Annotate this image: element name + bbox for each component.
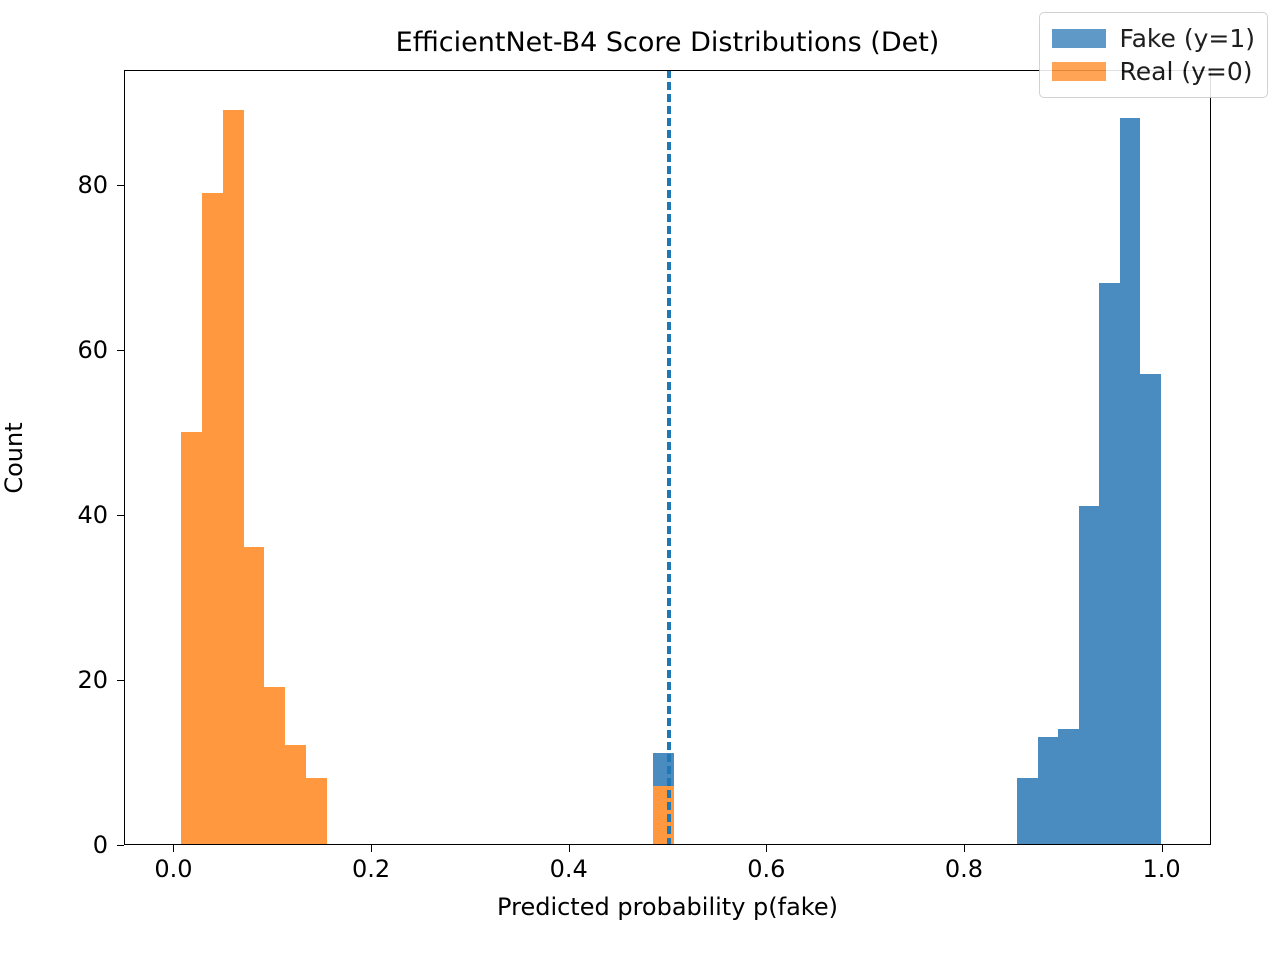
histogram-bar-real bbox=[244, 547, 265, 844]
histogram-bar-real bbox=[181, 432, 202, 844]
y-tick-mark bbox=[117, 185, 124, 186]
histogram-bar-fake bbox=[1038, 737, 1058, 844]
y-tick-mark bbox=[117, 350, 124, 351]
threshold-line bbox=[667, 71, 671, 844]
histogram-bar-fake bbox=[1017, 778, 1037, 844]
histogram-figure: EfficientNet-B4 Score Distributions (Det… bbox=[0, 0, 1280, 960]
histogram-bar-fake bbox=[1099, 283, 1119, 844]
x-tick-label: 1.0 bbox=[1142, 855, 1180, 883]
x-tick-label: 0.4 bbox=[550, 855, 588, 883]
x-tick-mark bbox=[173, 845, 174, 852]
x-tick-mark bbox=[964, 845, 965, 852]
plot-area bbox=[125, 71, 1210, 844]
y-axis-label-text: Count bbox=[0, 422, 28, 493]
x-axis-label: Predicted probability p(fake) bbox=[124, 893, 1211, 921]
histogram-bar-real bbox=[285, 745, 306, 844]
legend-label-real: Real (y=0) bbox=[1120, 57, 1253, 86]
x-tick-label: 0.6 bbox=[747, 855, 785, 883]
y-axis-label: Count bbox=[0, 0, 30, 960]
x-tick-label: 0.2 bbox=[352, 855, 390, 883]
y-tick-mark bbox=[117, 515, 124, 516]
x-tick-mark bbox=[569, 845, 570, 852]
legend-label-fake: Fake (y=1) bbox=[1120, 24, 1255, 53]
y-tick-label: 20 bbox=[77, 666, 108, 694]
y-tick-label: 40 bbox=[77, 501, 108, 529]
x-tick-mark bbox=[1162, 845, 1163, 852]
y-tick-label: 80 bbox=[77, 171, 108, 199]
histogram-bar-fake bbox=[1058, 729, 1078, 844]
x-tick-mark bbox=[766, 845, 767, 852]
histogram-bar-fake bbox=[1079, 506, 1099, 844]
y-tick-mark bbox=[117, 845, 124, 846]
y-tick-label: 0 bbox=[93, 831, 108, 859]
x-tick-label: 0.0 bbox=[154, 855, 192, 883]
legend-item-fake: Fake (y=1) bbox=[1052, 22, 1255, 55]
y-tick-mark bbox=[117, 680, 124, 681]
x-tick-mark bbox=[371, 845, 372, 852]
y-tick-label: 60 bbox=[77, 336, 108, 364]
histogram-bar-real bbox=[223, 110, 244, 844]
histogram-bar-real bbox=[306, 778, 327, 844]
x-tick-label: 0.8 bbox=[945, 855, 983, 883]
legend-item-real: Real (y=0) bbox=[1052, 55, 1255, 88]
histogram-bar-fake bbox=[1140, 374, 1160, 844]
plot-axes bbox=[124, 70, 1211, 845]
histogram-bar-fake bbox=[1120, 118, 1140, 844]
histogram-bar-real bbox=[202, 193, 223, 844]
histogram-bar-real bbox=[264, 687, 285, 844]
legend-swatch-fake bbox=[1052, 29, 1106, 48]
chart-legend: Fake (y=1) Real (y=0) bbox=[1039, 12, 1268, 98]
legend-swatch-real bbox=[1052, 62, 1106, 81]
histogram-bar-real bbox=[653, 786, 673, 844]
